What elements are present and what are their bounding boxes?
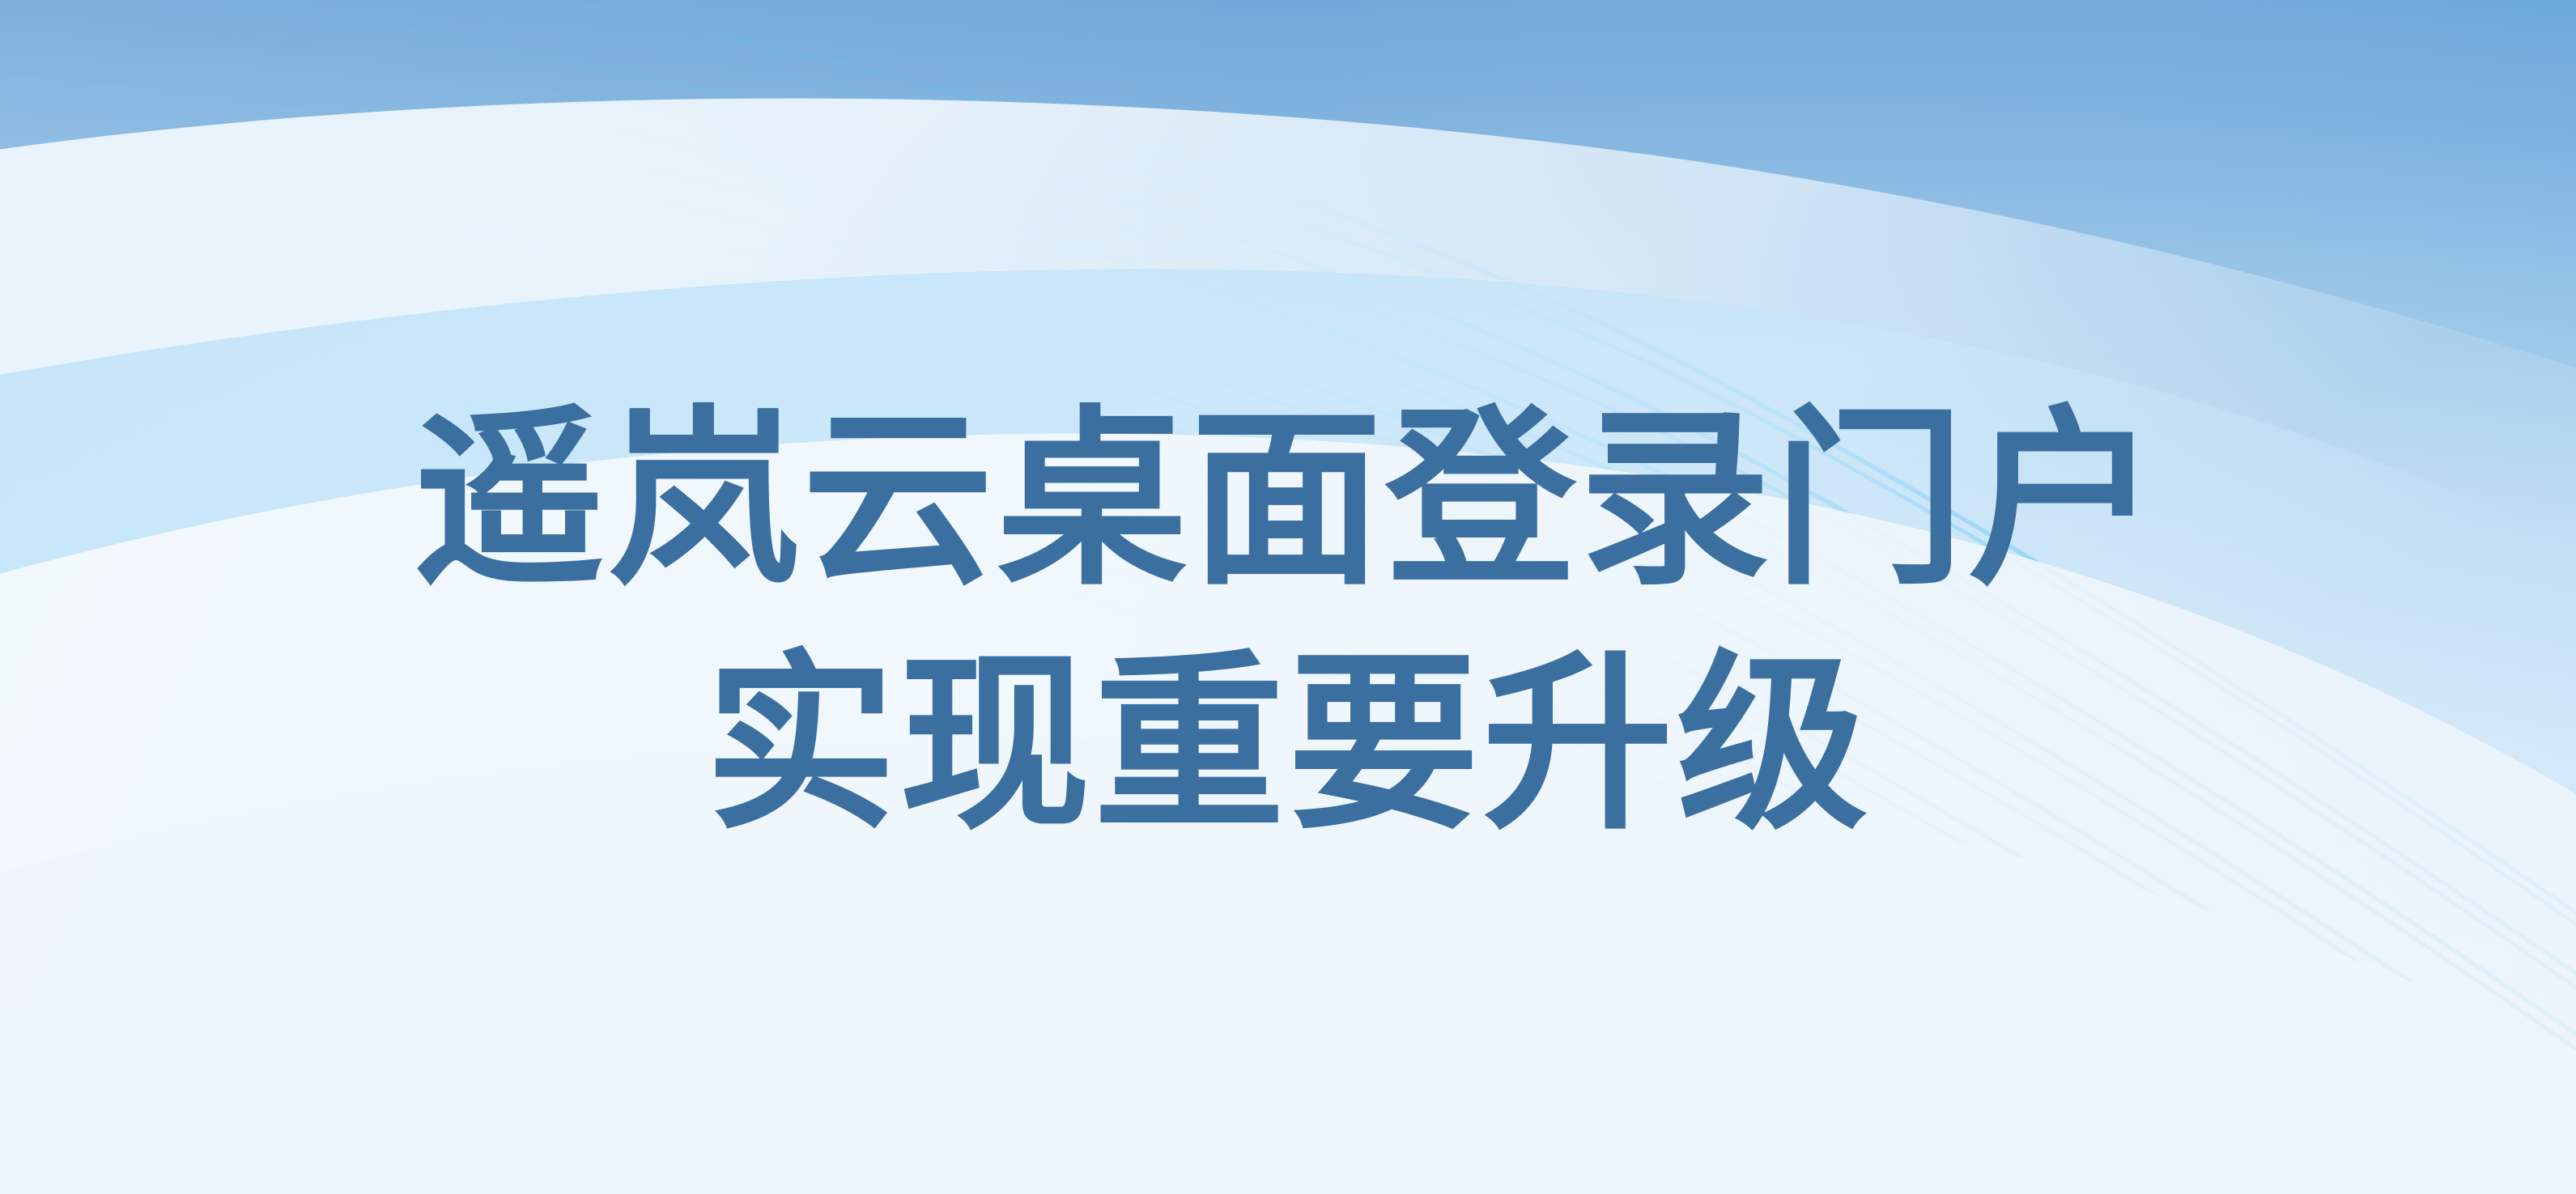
background-waves (0, 0, 2576, 1194)
title-banner: 遥岚云桌面登录门户 实现重要升级 (0, 0, 2576, 1194)
